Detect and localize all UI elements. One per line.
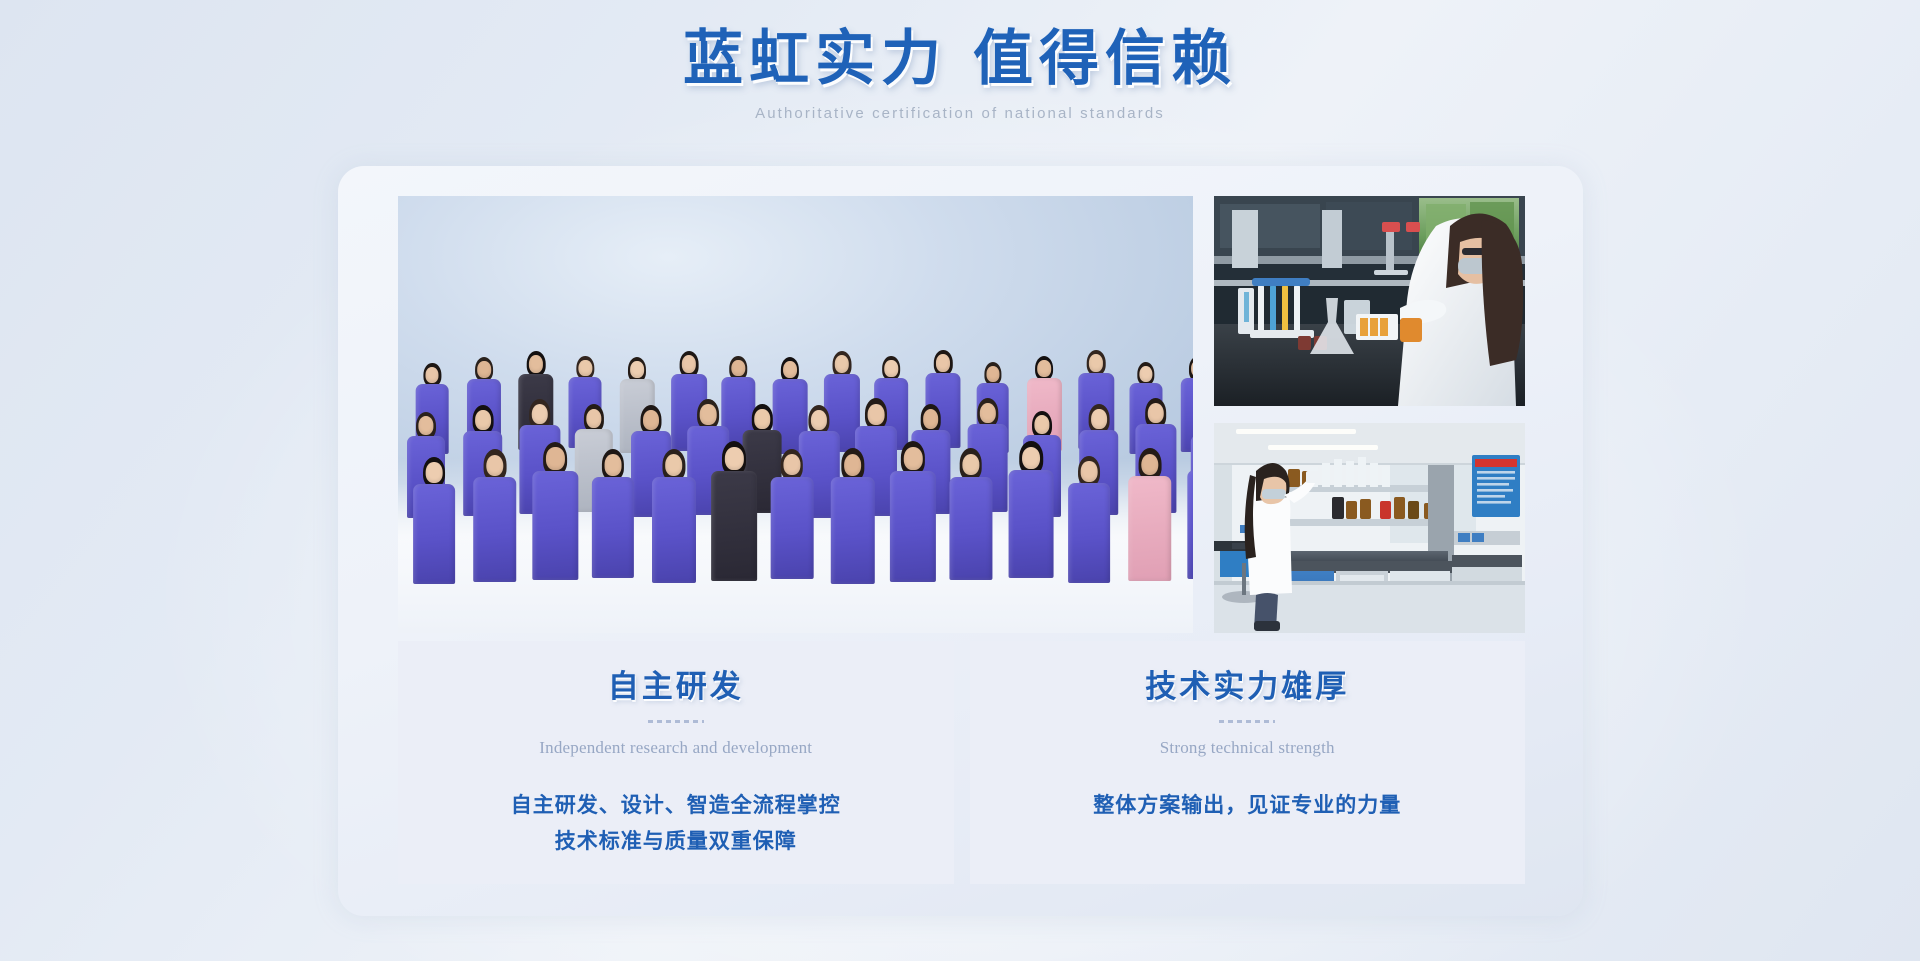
card-divider (1219, 720, 1275, 723)
team-member (1003, 441, 1059, 578)
team-member (1182, 441, 1193, 579)
card-title: 自主研发 (398, 668, 954, 707)
team-member-head (783, 454, 800, 475)
team-member-head (783, 361, 797, 378)
team-member-head (1148, 403, 1164, 424)
team-photo-scene (398, 196, 1193, 633)
lab-photo-1 (1214, 196, 1525, 406)
team-member-head (665, 454, 683, 476)
team-member-uniform (890, 471, 936, 582)
team-member-head (844, 454, 862, 476)
team-member-head (1034, 415, 1049, 434)
team-member-uniform (1009, 470, 1054, 578)
team-member-head (904, 447, 922, 470)
lab-photo-2-illustration (1214, 423, 1525, 633)
team-member-head (1091, 409, 1107, 429)
card-description: 自主研发、设计、智造全流程掌控 技术标准与质量双重保障 (398, 787, 954, 859)
team-member-head (1141, 454, 1158, 476)
team-member-uniform (830, 477, 874, 584)
team-member-head (700, 404, 717, 425)
team-member-head (885, 360, 898, 377)
card-description-line-2: 技术标准与质量双重保障 (398, 823, 954, 859)
team-member (884, 441, 942, 582)
card-title: 技术实力雄厚 (970, 668, 1526, 707)
team-member-head (682, 355, 696, 373)
card-independent-rd[interactable]: 自主研发 Independent research and developmen… (398, 641, 954, 884)
team-member-head (986, 366, 999, 382)
lab-photo-1-illustration (1214, 196, 1525, 406)
team-member-uniform (949, 477, 992, 580)
page-header: 蓝虹实力值得信赖 Authoritative certification of … (0, 26, 1920, 122)
team-member-head (532, 404, 548, 425)
team-member-head (923, 409, 939, 429)
team-member-head (477, 361, 491, 378)
team-member-head (546, 447, 564, 470)
team-member (527, 442, 584, 580)
team-member-head (605, 454, 622, 475)
card-description-line-1: 整体方案输出，见证专业的力量 (970, 787, 1526, 823)
team-member-head (529, 355, 543, 373)
team-member (706, 441, 763, 581)
team-member-head (418, 416, 433, 435)
page-subtitle: Authoritative certification of national … (0, 105, 1920, 122)
team-member-head (486, 455, 503, 477)
team-member-head (868, 404, 885, 425)
team-member-head (811, 410, 827, 430)
team-member-uniform (652, 477, 696, 583)
team-member-uniform (1068, 483, 1110, 583)
team-member-uniform (413, 484, 455, 584)
team-member-uniform (711, 471, 757, 581)
team-member-uniform (533, 471, 578, 580)
page-title-part1: 蓝虹实力 (683, 26, 947, 92)
lab-photo-2 (1214, 423, 1525, 633)
team-member-head (1022, 447, 1040, 469)
team-member-head (1139, 366, 1152, 383)
team-member (468, 449, 522, 582)
team-member-head (962, 454, 979, 476)
team-member (1122, 448, 1176, 581)
team-member-head (1089, 354, 1103, 372)
team-photo (398, 196, 1193, 633)
team-member (944, 448, 998, 580)
card-technical-strength[interactable]: 技术实力雄厚 Strong technical strength 整体方案输出，… (970, 641, 1526, 884)
team-member-head (732, 360, 745, 377)
team-member-head (725, 447, 743, 470)
card-description: 整体方案输出，见证专业的力量 (970, 787, 1526, 823)
team-member-head (630, 361, 644, 378)
team-member-head (936, 354, 950, 372)
team-member-head (475, 410, 491, 430)
team-member (825, 448, 881, 584)
feature-cards: 自主研发 Independent research and developmen… (398, 641, 1525, 884)
card-subtitle: Strong technical strength (970, 738, 1526, 758)
team-member-head (835, 355, 849, 373)
card-subtitle: Independent research and development (398, 738, 954, 758)
page-title-part2: 值得信赖 (973, 26, 1237, 92)
content-panel: 自主研发 Independent research and developmen… (338, 166, 1583, 916)
card-description-line-1: 自主研发、设计、智造全流程掌控 (398, 787, 954, 823)
team-member-head (1038, 360, 1052, 377)
team-member-head (426, 367, 439, 383)
team-member-head (1081, 461, 1098, 482)
team-member-uniform (1128, 476, 1172, 581)
team-member (408, 457, 460, 584)
team-member-uniform (473, 477, 517, 582)
team-member-head (643, 410, 659, 430)
team-member (587, 449, 640, 578)
team-member (765, 449, 818, 579)
team-member-head (579, 360, 592, 377)
page-title: 蓝虹实力值得信赖 (0, 26, 1920, 93)
team-member-head (979, 403, 995, 423)
card-divider (648, 720, 704, 723)
team-member-head (426, 462, 443, 483)
team-member-uniform (1188, 470, 1193, 579)
team-member-uniform (592, 477, 634, 578)
media-row (398, 196, 1525, 633)
team-member (646, 449, 701, 583)
team-member-uniform (771, 477, 814, 579)
team-member-head (754, 409, 770, 428)
team-member-head (586, 409, 601, 428)
team-member (1063, 456, 1115, 583)
